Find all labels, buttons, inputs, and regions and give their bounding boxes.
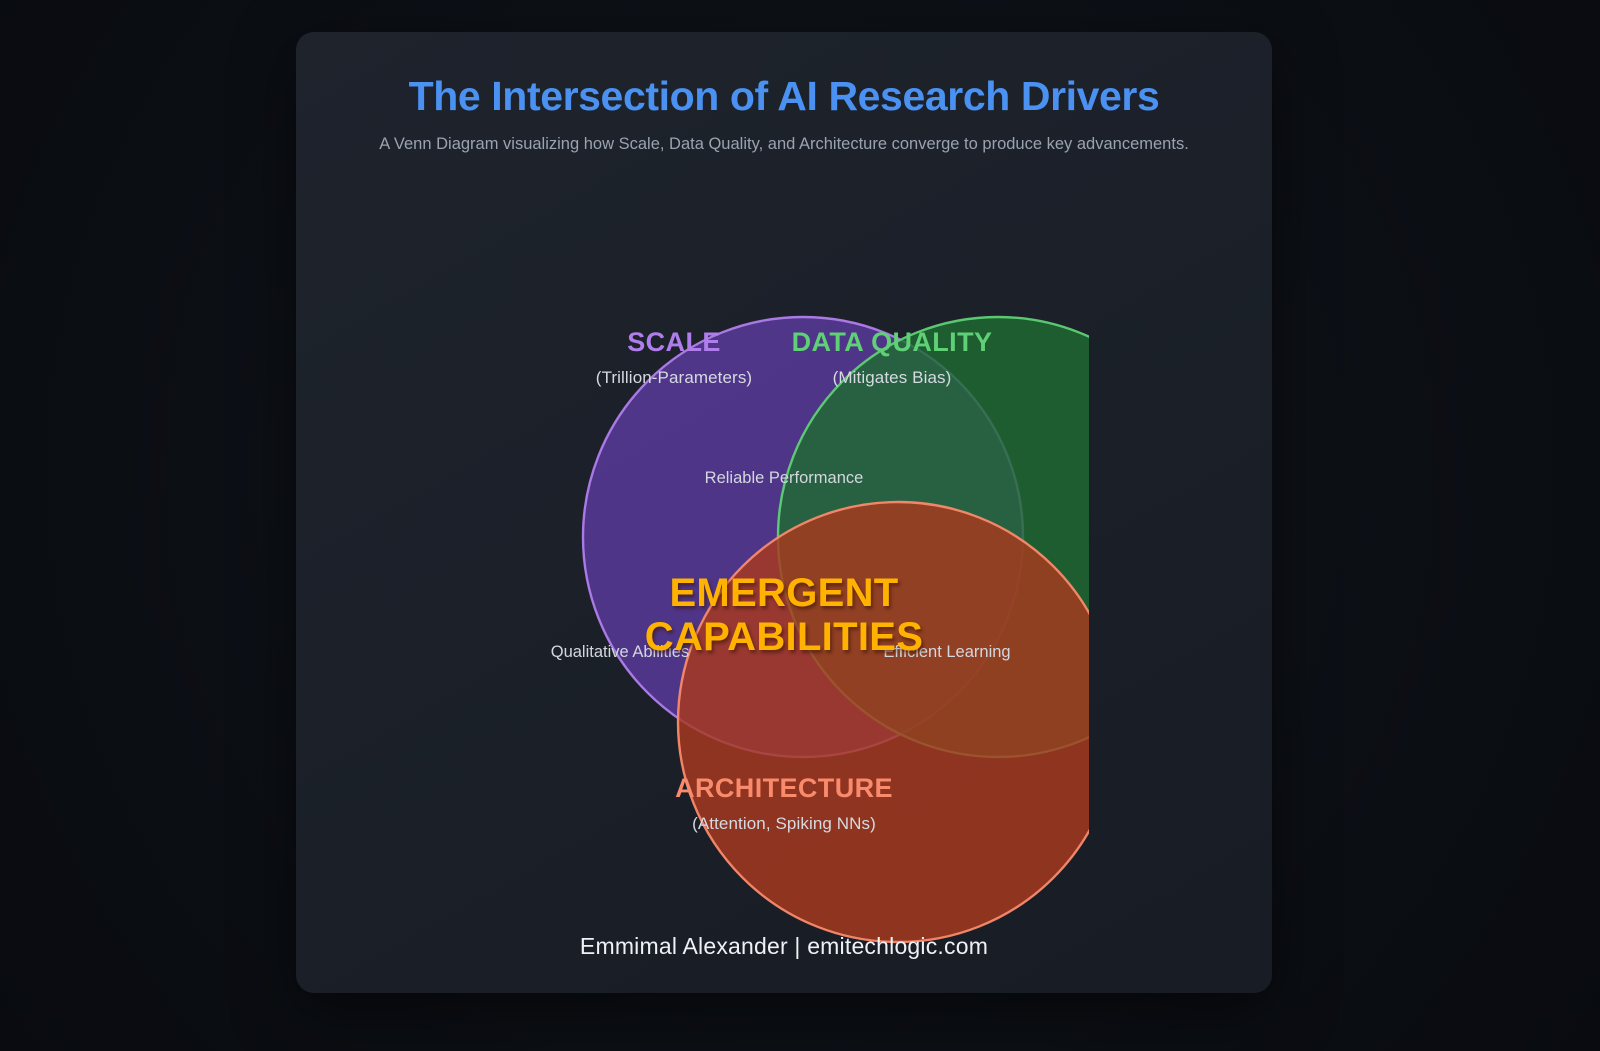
diagram-card: The Intersection of AI Research Drivers … — [296, 32, 1272, 993]
venn-diagram: SCALE (Trillion-Parameters) DATA QUALITY… — [296, 32, 1272, 993]
venn-circle-group — [583, 317, 1089, 942]
venn-circle-architecture[interactable] — [678, 502, 1089, 942]
page-root: The Intersection of AI Research Drivers … — [0, 0, 1600, 1051]
footer-credit: Emmimal Alexander | emitechlogic.com — [296, 933, 1272, 960]
venn-circles-svg — [296, 32, 1089, 993]
